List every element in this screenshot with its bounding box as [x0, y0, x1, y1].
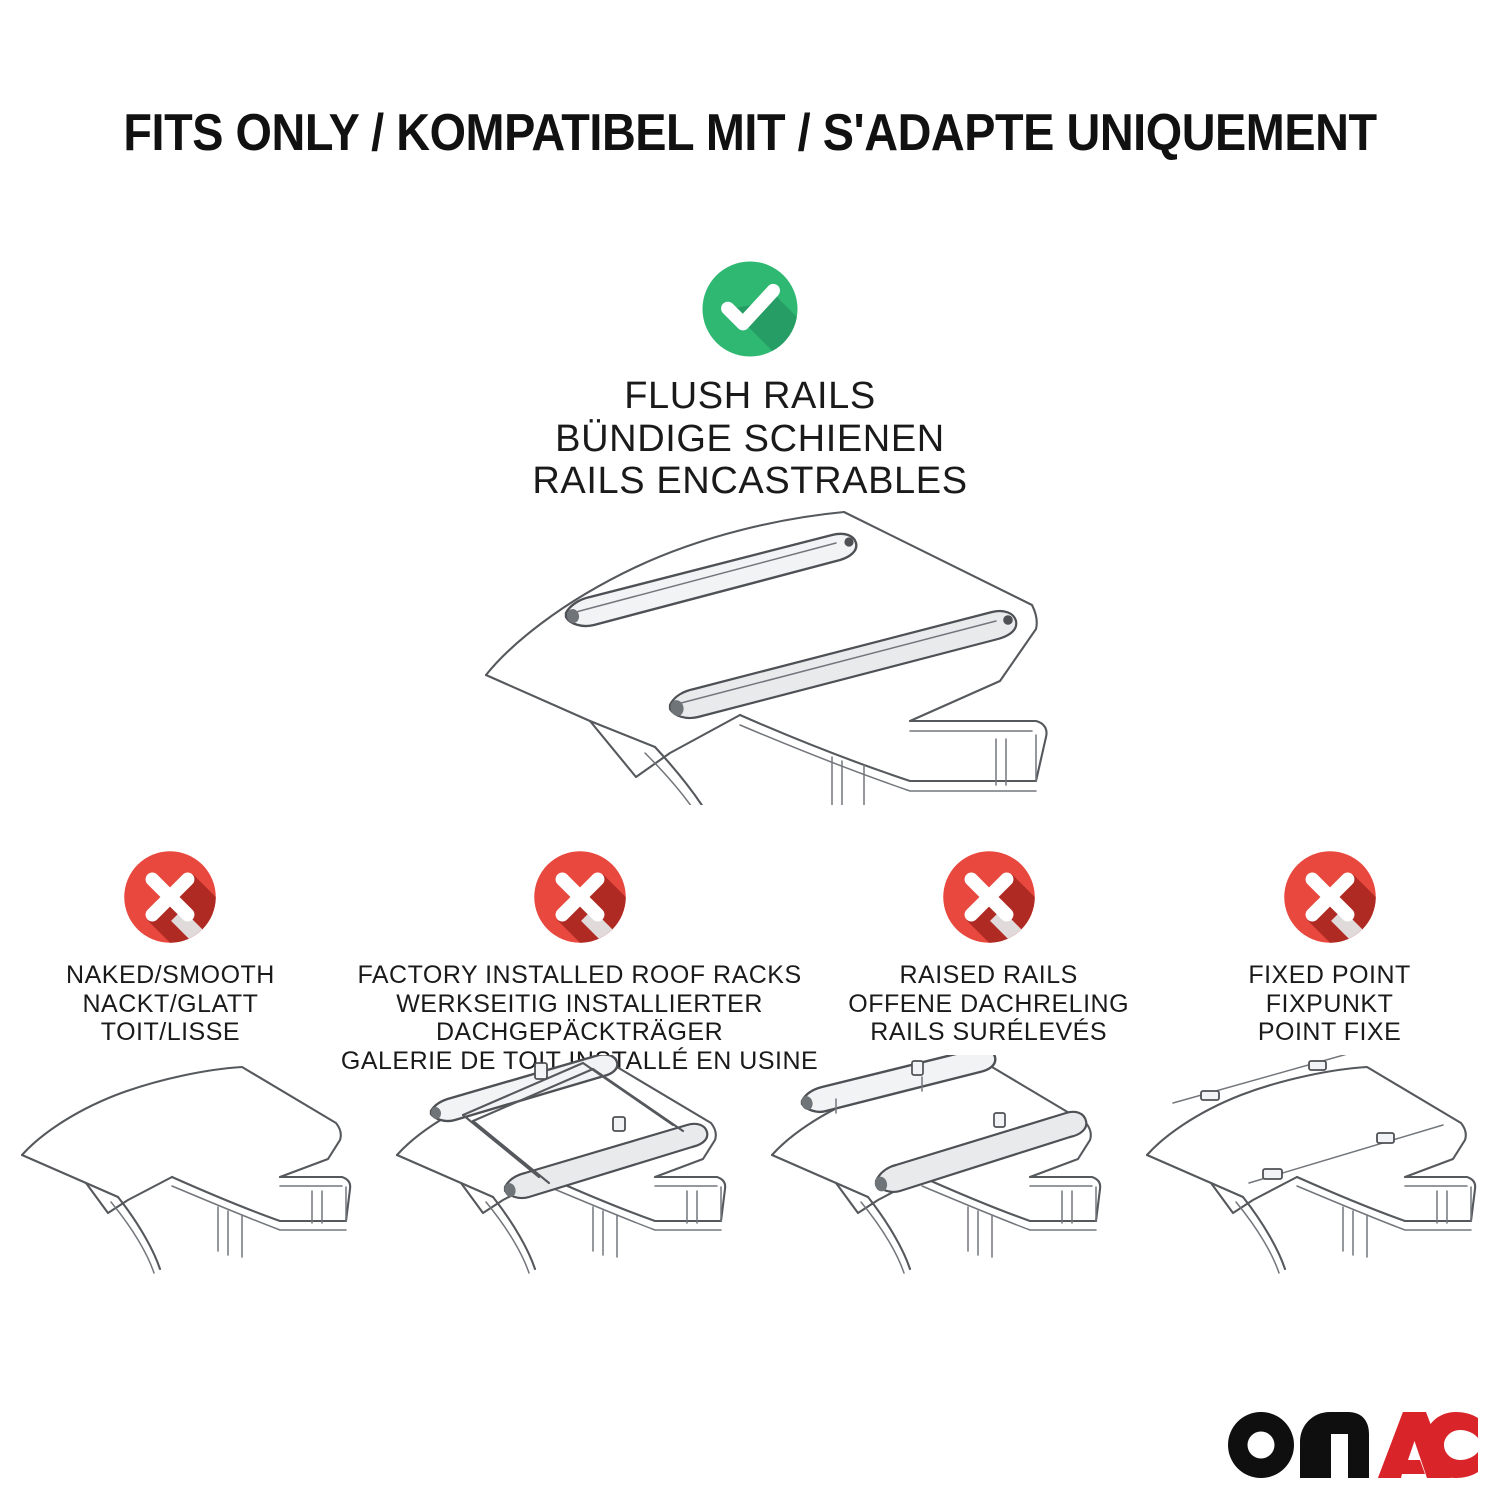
car-roof-fixed-point-illustration — [1125, 1055, 1500, 1285]
incompatible-item-raised-rails: RAISED RAILS OFFENE DACHRELING RAILS SUR… — [818, 845, 1159, 1047]
car-roof-raised-rails-illustration — [750, 1055, 1125, 1285]
logo-letter-m — [1300, 1412, 1369, 1478]
compatible-label-en: FLUSH RAILS — [532, 375, 967, 418]
cross-circle-icon — [528, 845, 632, 949]
incompatible-label-en: NAKED/SMOOTH — [66, 961, 275, 990]
incompatible-label-de: OFFENE DACHRELING — [848, 990, 1129, 1019]
incompatible-row: NAKED/SMOOTH NACKT/GLATT TOIT/LISSE — [0, 845, 1500, 1075]
incompatible-label-en: FIXED POINT — [1248, 961, 1410, 990]
cross-circle-icon — [937, 845, 1041, 949]
incompatible-labels: RAISED RAILS OFFENE DACHRELING RAILS SUR… — [848, 961, 1129, 1047]
incompatible-label-fr: TOIT/LISSE — [66, 1018, 275, 1047]
cross-circle-icon — [1278, 845, 1382, 949]
incompatible-item-fixed-point: FIXED POINT FIXPUNKT POINT FIXE — [1159, 845, 1500, 1047]
compatible-labels: FLUSH RAILS BÜNDIGE SCHIENEN RAILS ENCAS… — [532, 375, 967, 503]
incompatible-label-fr: POINT FIXE — [1248, 1018, 1410, 1047]
omac-logo — [1228, 1408, 1478, 1482]
bottom-roof-illustrations — [0, 1055, 1500, 1285]
incompatible-item-naked-smooth: NAKED/SMOOTH NACKT/GLATT TOIT/LISSE — [0, 845, 341, 1047]
check-circle-icon — [696, 255, 804, 363]
car-roof-flush-rails-illustration — [440, 485, 1080, 805]
incompatible-label-de: NACKT/GLATT — [66, 990, 275, 1019]
incompatible-label-en: FACTORY INSTALLED ROOF RACKS — [341, 961, 818, 990]
incompatible-label-en: RAISED RAILS — [848, 961, 1129, 990]
car-roof-factory-racks-illustration — [375, 1055, 750, 1285]
incompatible-labels: FIXED POINT FIXPUNKT POINT FIXE — [1248, 961, 1410, 1047]
car-roof-naked-illustration — [0, 1055, 375, 1285]
incompatible-label-fr: RAILS SURÉLEVÉS — [848, 1018, 1129, 1047]
incompatible-label-de: FIXPUNKT — [1248, 990, 1410, 1019]
incompatible-item-factory-roof-racks: FACTORY INSTALLED ROOF RACKS WERKSEITIG … — [341, 845, 818, 1075]
logo-letter-o — [1228, 1412, 1294, 1478]
compatible-block: FLUSH RAILS BÜNDIGE SCHIENEN RAILS ENCAS… — [0, 255, 1500, 503]
compatible-label-de: BÜNDIGE SCHIENEN — [532, 418, 967, 461]
incompatible-label-de-2: DACHGEPÄCKTRÄGER — [341, 1018, 818, 1047]
page-title: FITS ONLY / KOMPATIBEL MIT / S'ADAPTE UN… — [75, 103, 1425, 163]
incompatible-label-de-1: WERKSEITIG INSTALLIERTER — [341, 990, 818, 1019]
cross-circle-icon — [118, 845, 222, 949]
incompatible-labels: NAKED/SMOOTH NACKT/GLATT TOIT/LISSE — [66, 961, 275, 1047]
